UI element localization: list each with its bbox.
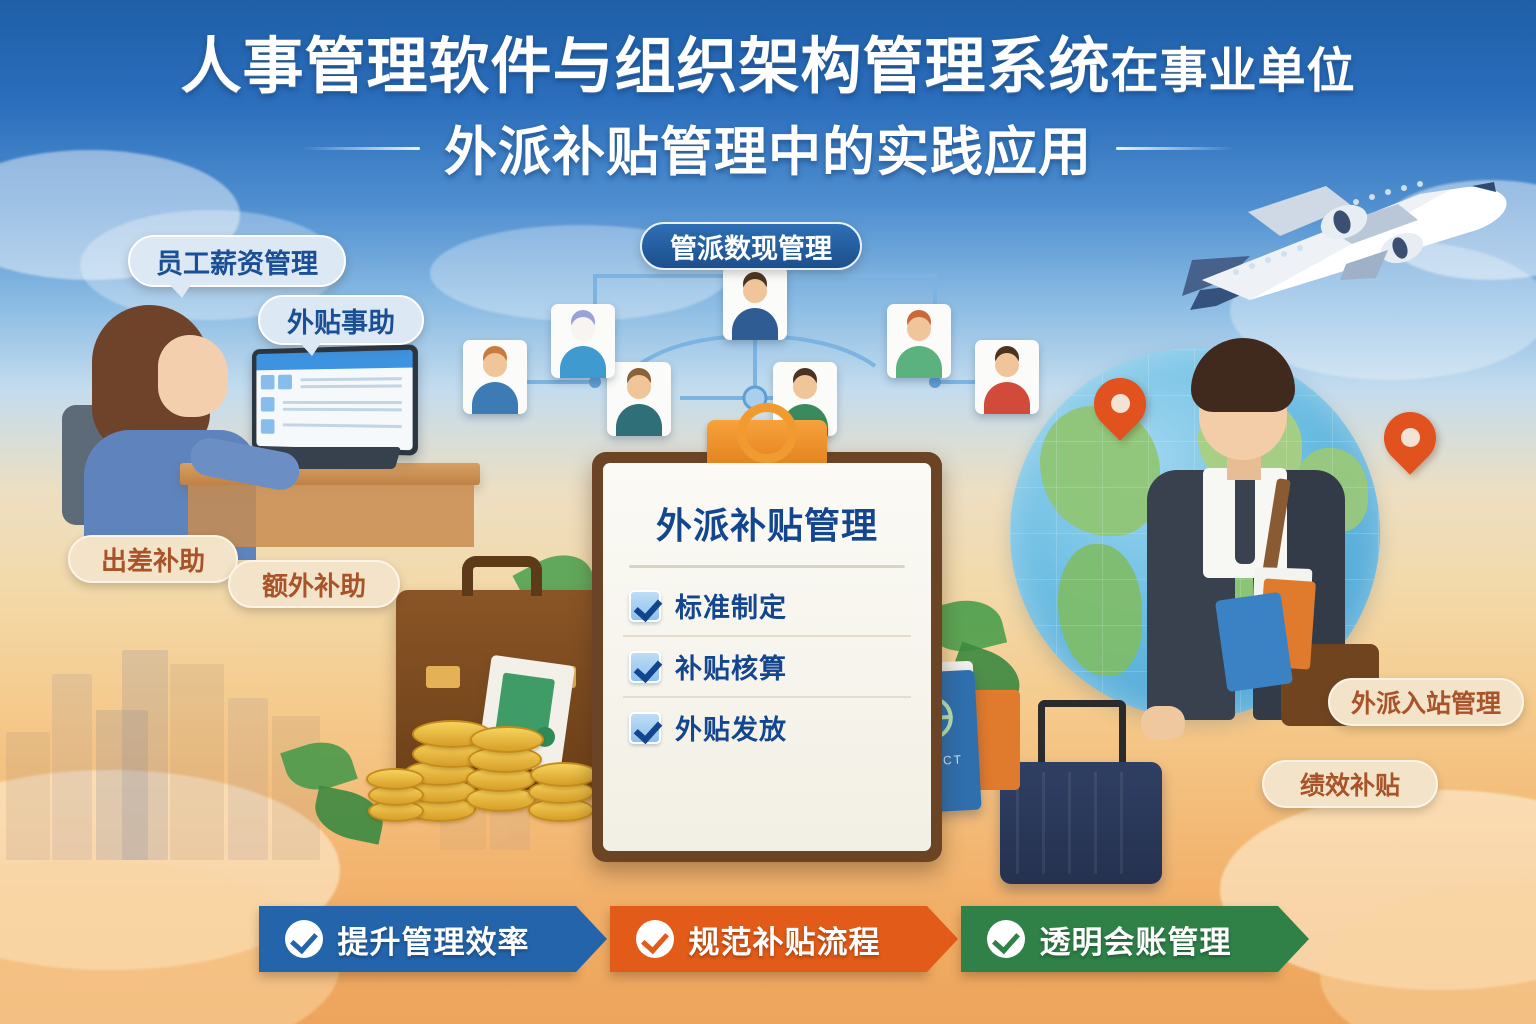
laptop-screen xyxy=(252,344,418,455)
tag-performance-subsidy-text: 绩效补贴 xyxy=(1300,766,1400,802)
benefit-banner-row: 提升管理效率 规范补贴流程 透明会账管理 xyxy=(0,906,1536,972)
badge-org-data-text: 管派数现管理 xyxy=(670,227,832,266)
tag-travel-subsidy-text: 出差补助 xyxy=(101,541,205,578)
label-staff-salary[interactable]: 员工薪资管理 xyxy=(128,235,346,287)
building-silhouette xyxy=(170,664,224,860)
checkbox-icon[interactable] xyxy=(629,712,661,744)
clipboard-title: 外派补贴管理 xyxy=(623,497,911,549)
tag-travel-subsidy[interactable]: 出差补助 xyxy=(68,535,238,583)
benefit-banner-process-label: 规范补贴流程 xyxy=(689,917,881,962)
org-node-leaf-2[interactable] xyxy=(551,304,615,378)
checklist-item[interactable]: 补贴核算 xyxy=(623,637,911,698)
checklist-item-label: 外贴发放 xyxy=(675,708,787,747)
building-silhouette xyxy=(52,674,92,860)
benefit-banner-efficiency-label: 提升管理效率 xyxy=(338,917,530,962)
checklist-item-label: 补贴核算 xyxy=(675,647,787,686)
suitcase-handle xyxy=(1038,700,1126,764)
building-silhouette xyxy=(228,698,268,860)
checklist-item[interactable]: 标准制定 xyxy=(623,576,911,637)
checkbox-icon[interactable] xyxy=(629,651,661,683)
rolling-suitcase xyxy=(1000,762,1162,884)
hand-shape xyxy=(1141,706,1185,740)
allowance-checklist-clipboard: 外派补贴管理 标准制定 补贴核算 外贴发放 xyxy=(592,452,942,862)
tag-expat-personnel[interactable]: 外派入站管理 xyxy=(1328,678,1524,726)
expat-employee-illustration xyxy=(1135,338,1375,808)
label-staff-salary-text: 员工薪资管理 xyxy=(156,242,318,281)
org-node-leaf-1[interactable] xyxy=(463,340,527,414)
divider-line-left xyxy=(302,147,420,150)
divider-line-right xyxy=(1116,147,1234,150)
held-document-blue xyxy=(1215,592,1293,692)
check-circle-icon xyxy=(987,920,1025,958)
poster-header: 人事管理软件与组织架构管理系统在事业单位 外派补贴管理中的实践应用 xyxy=(0,0,1536,205)
benefit-banner-process[interactable]: 规范补贴流程 xyxy=(610,906,927,972)
tag-performance-subsidy[interactable]: 绩效补贴 xyxy=(1262,760,1438,808)
label-allowance-assist[interactable]: 外贴事助 xyxy=(258,295,424,345)
badge-org-data[interactable]: 管派数现管理 xyxy=(640,222,862,270)
tag-extra-subsidy-text: 额外补助 xyxy=(262,566,366,603)
title-main-tail: 在事业单位 xyxy=(1111,45,1356,98)
desk-front xyxy=(188,485,474,547)
checkbox-icon[interactable] xyxy=(629,590,661,622)
page-title: 人事管理软件与组织架构管理系统在事业单位 xyxy=(0,34,1536,98)
title-main-text: 人事管理软件与组织架构管理系统 xyxy=(180,32,1110,100)
subtitle-row: 外派补贴管理中的实践应用 xyxy=(0,110,1536,186)
hair-shape xyxy=(1191,338,1295,412)
tag-expat-personnel-text: 外派入站管理 xyxy=(1351,684,1501,720)
checklist-item[interactable]: 外贴发放 xyxy=(623,698,911,757)
location-pin-icon xyxy=(1384,412,1436,482)
infographic-poster: 人事管理软件与组织架构管理系统在事业单位 外派补贴管理中的实践应用 xyxy=(0,0,1536,1024)
benefit-banner-efficiency[interactable]: 提升管理效率 xyxy=(259,906,576,972)
building-silhouette xyxy=(6,732,50,860)
clipboard-paper: 外派补贴管理 标准制定 补贴核算 外贴发放 xyxy=(603,463,931,851)
tag-extra-subsidy[interactable]: 额外补助 xyxy=(228,560,400,608)
org-node-root[interactable] xyxy=(723,266,787,340)
label-allowance-assist-text: 外贴事助 xyxy=(287,301,395,340)
benefit-banner-transparency-label: 透明会账管理 xyxy=(1040,917,1232,962)
check-circle-icon xyxy=(636,920,674,958)
benefit-banner-transparency[interactable]: 透明会账管理 xyxy=(961,906,1278,972)
clipboard-divider xyxy=(629,565,905,568)
checklist-item-label: 标准制定 xyxy=(675,586,787,625)
org-node-leaf-3[interactable] xyxy=(887,304,951,378)
check-circle-icon xyxy=(285,920,323,958)
building-silhouette xyxy=(122,650,168,860)
face-shape xyxy=(158,335,228,417)
page-subtitle: 外派补贴管理中的实践应用 xyxy=(444,110,1092,186)
necktie-shape xyxy=(1235,472,1255,564)
org-node-mid-left[interactable] xyxy=(607,362,671,436)
org-node-leaf-4[interactable] xyxy=(975,340,1039,414)
